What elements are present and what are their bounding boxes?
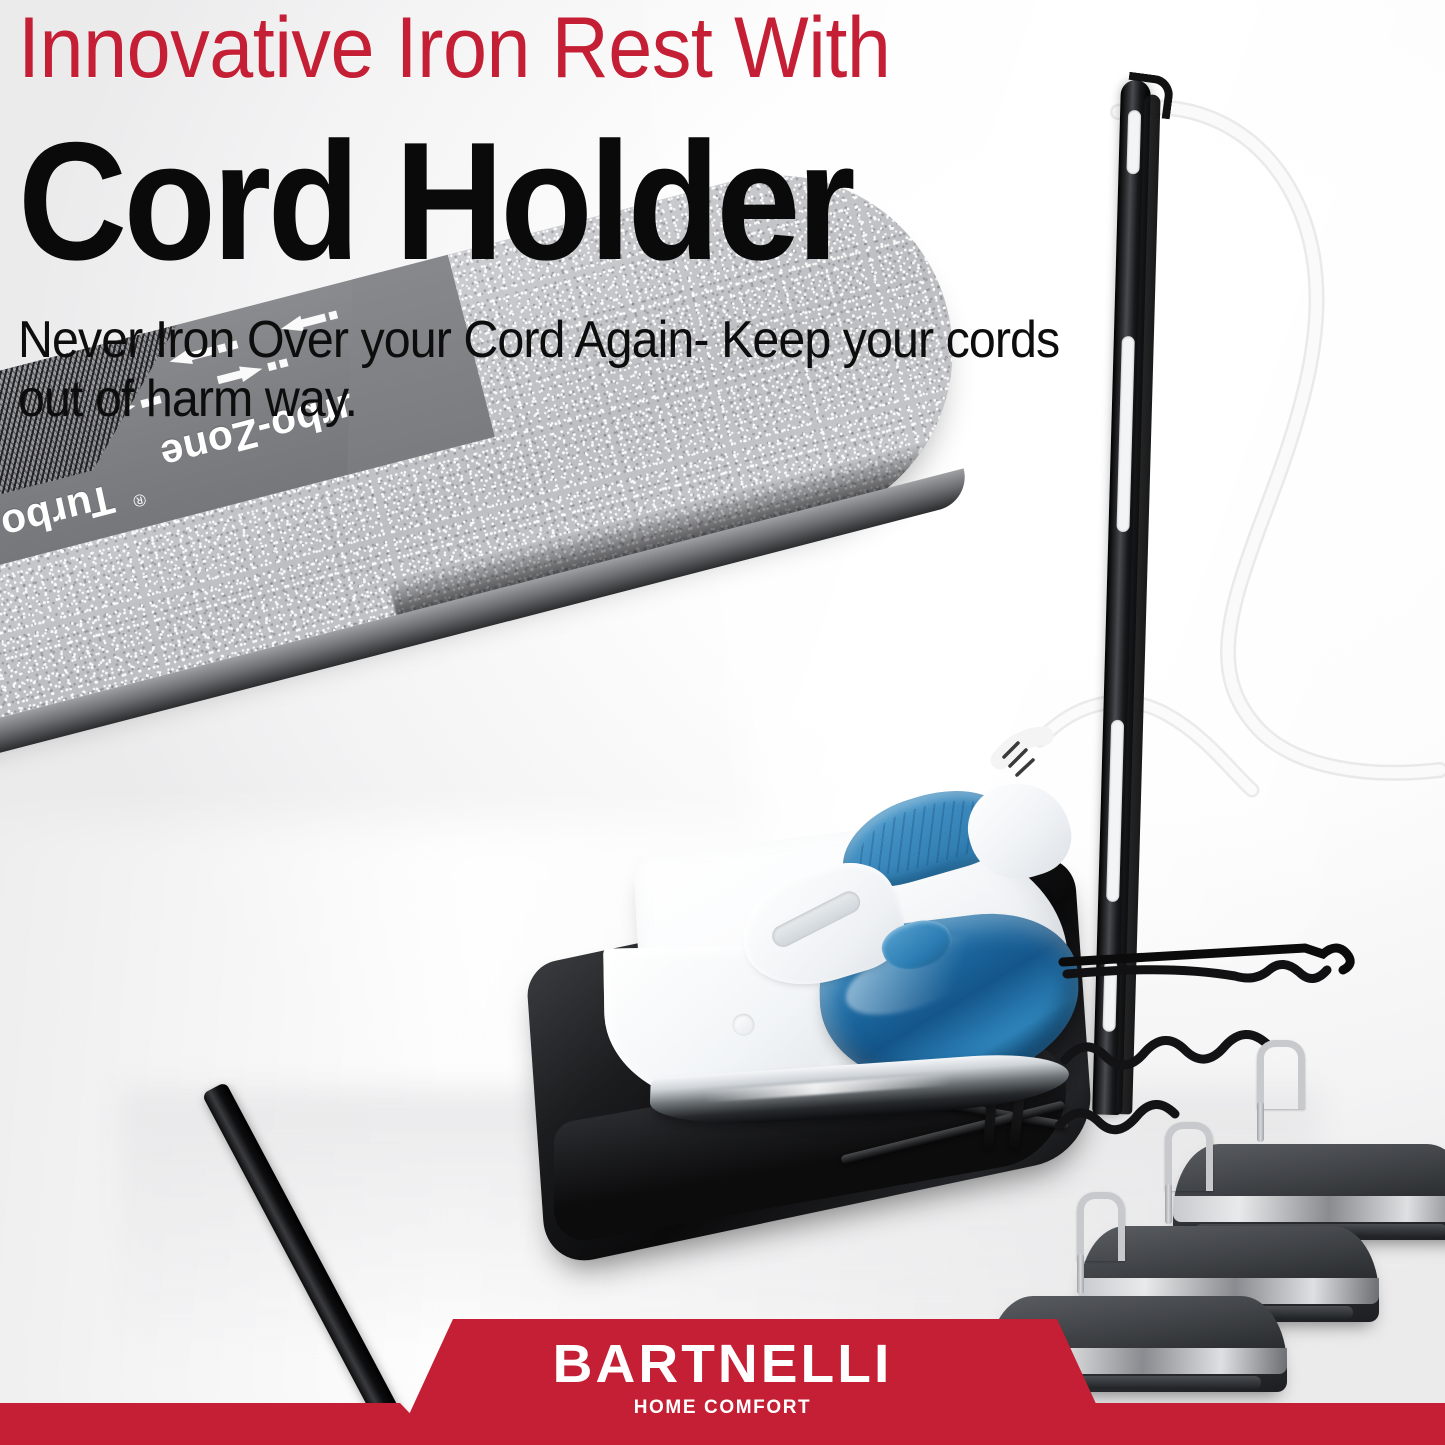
brand-tagline: HOME COMFORT [0,1397,1445,1419]
headline-line-2: Cord Holder [18,117,1179,285]
brand-name: BARTNELLI [0,1333,1445,1395]
headline-block: Innovative Iron Rest With Cord Holder Ne… [18,4,1308,429]
turbo-zone-registered-2: ® [131,488,148,511]
hanger-hook-icon-1 [1077,1192,1125,1261]
headline-line-1: Innovative Iron Rest With [18,4,1205,93]
hanger-hook-icon-3 [1257,1040,1305,1109]
product-marketing-poster: Turbo-Zone ® Turbo-Zone ® [0,0,1445,1445]
brand-banner: BARTNELLI HOME COMFORT [0,1319,1445,1445]
hanger-hook-icon-2 [1165,1122,1213,1191]
subheadline: Never Iron Over your Cord Again- Keep yo… [18,311,1115,430]
